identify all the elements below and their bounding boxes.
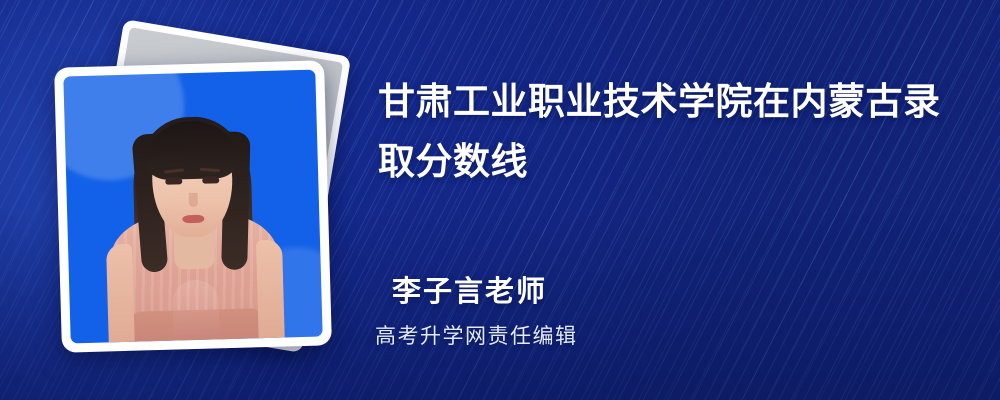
banner-title: 甘肃工业职业技术学院在内蒙古录 取分数线 [378,72,958,192]
author-portrait-photo [63,70,322,344]
author-role: 高考升学网责任编辑 [375,320,578,350]
portrait-mouth [182,215,204,224]
article-header-banner: 甘肃工业职业技术学院在内蒙古录 取分数线 李子言老师 高考升学网责任编辑 [0,0,1000,400]
banner-title-line-1: 甘肃工业职业技术学院在内蒙古录 [378,72,958,132]
portrait-eye-left [165,177,182,184]
banner-title-line-2: 取分数线 [378,132,958,192]
portrait-eye-right [202,176,219,183]
photo-card-front [54,60,332,352]
portrait-neckline [172,279,220,340]
author-name: 李子言老师 [392,268,547,310]
portrait-nose [189,193,198,207]
portrait-figure [63,70,322,344]
portrait-arm-right [256,240,285,339]
portrait-arm-left [106,244,135,343]
photo-stack [58,44,348,344]
